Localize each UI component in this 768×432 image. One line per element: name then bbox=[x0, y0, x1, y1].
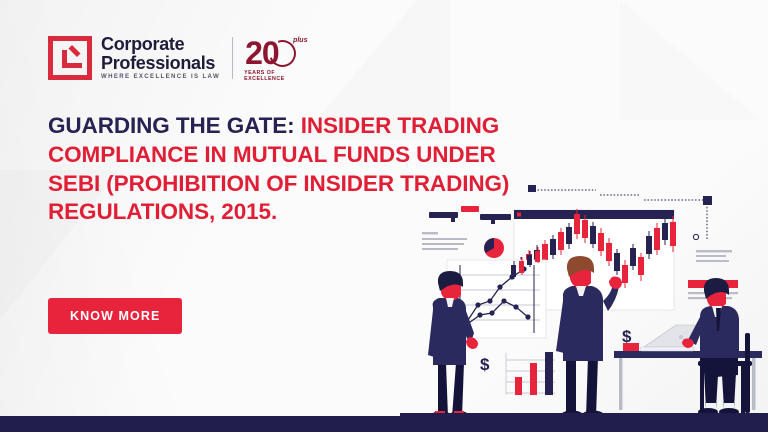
logo-line-2: Professionals bbox=[101, 54, 220, 72]
logo-divider bbox=[232, 37, 233, 79]
connector-node-dot bbox=[693, 234, 698, 239]
bottom-accent-bar bbox=[0, 416, 768, 432]
bar-chart bbox=[506, 352, 555, 395]
window-close-icon bbox=[517, 213, 521, 217]
connector-node-left bbox=[528, 185, 536, 192]
text-lines-right bbox=[696, 250, 732, 262]
desk bbox=[614, 351, 762, 410]
background-triangle-3 bbox=[620, 0, 760, 120]
mini-trend-marker-icon bbox=[429, 206, 511, 224]
bar-1 bbox=[515, 377, 522, 395]
headline-navy-segment: GUARDING THE GATE: bbox=[48, 113, 301, 138]
brand-logo[interactable]: Corporate Professionals WHERE EXCELLENCE… bbox=[48, 32, 313, 84]
anniversary-badge: 20 plus YEARS OF EXCELLENCE bbox=[243, 36, 313, 80]
dollar-sign-left: $ bbox=[480, 355, 490, 374]
anniversary-plus-label: plus bbox=[293, 37, 307, 44]
bar-2 bbox=[530, 363, 537, 395]
anniversary-caption: YEARS OF EXCELLENCE bbox=[244, 70, 313, 82]
bar-3 bbox=[545, 352, 553, 395]
text-lines-upper-left bbox=[422, 232, 467, 250]
pie-chart bbox=[484, 238, 504, 258]
corporate-professionals-g-mark-icon bbox=[48, 36, 92, 80]
desk-red-item bbox=[623, 343, 639, 351]
stock-analysis-illustration: $ $ bbox=[400, 165, 768, 417]
logo-tagline: WHERE EXCELLENCE IS LAW bbox=[101, 74, 220, 80]
know-more-button[interactable]: KNOW MORE bbox=[48, 298, 182, 334]
logo-wordmark: Corporate Professionals WHERE EXCELLENCE… bbox=[101, 35, 220, 80]
logo-line-1: Corporate bbox=[101, 35, 220, 53]
connector-node-right bbox=[703, 196, 712, 205]
promotional-banner: Corporate Professionals WHERE EXCELLENCE… bbox=[0, 0, 768, 432]
